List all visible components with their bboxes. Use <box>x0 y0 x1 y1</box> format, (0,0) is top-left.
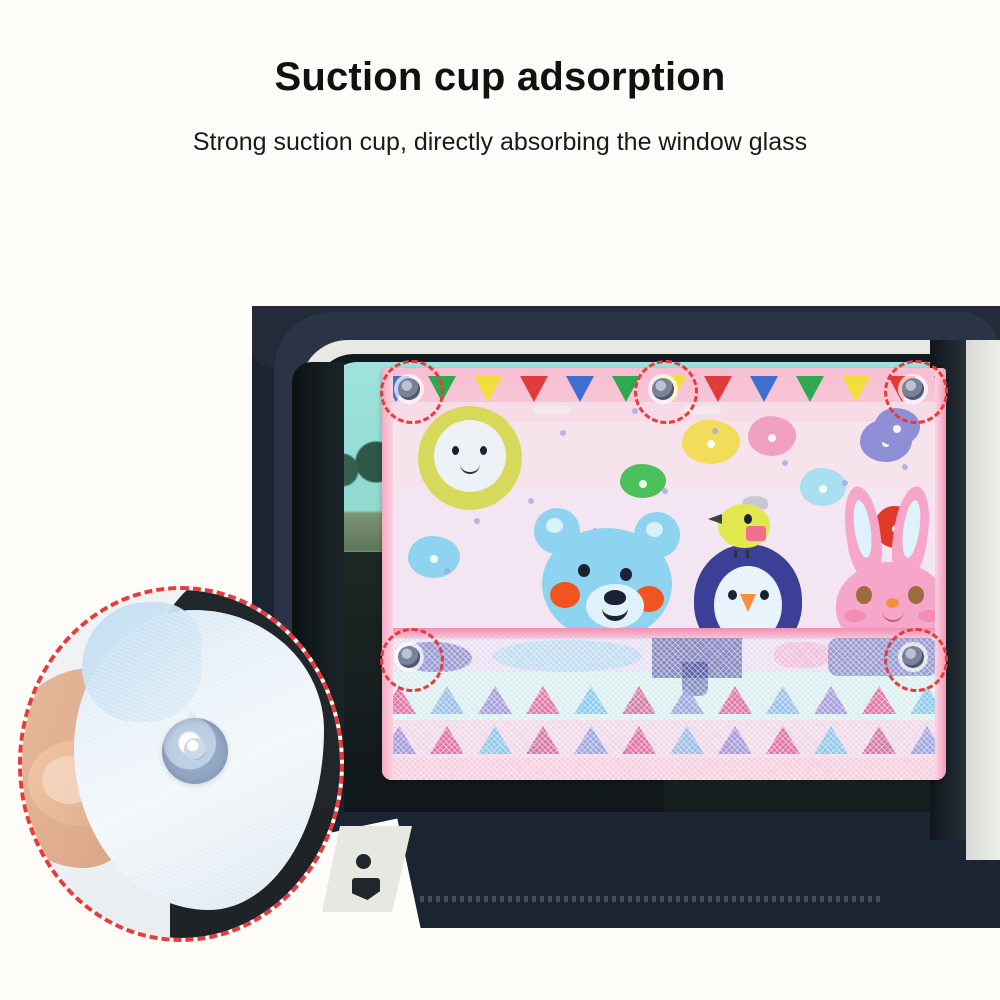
chick-leg <box>734 550 737 558</box>
bunting-flag <box>750 376 778 402</box>
suction-cup-closeup-inset <box>18 586 344 942</box>
decor-speck <box>782 460 788 466</box>
bunting-flag <box>704 376 732 402</box>
bear-eye <box>620 568 632 581</box>
decor-speck <box>902 464 908 470</box>
chick-character <box>712 496 774 552</box>
blob-center-dot <box>768 434 776 442</box>
bunting-flag <box>842 376 870 402</box>
decor-speck <box>662 488 668 494</box>
lion-face <box>434 420 506 492</box>
bunting-flag <box>566 376 594 402</box>
blob-center-dot <box>639 480 647 488</box>
blob-center-dot <box>430 555 438 563</box>
bunny-eye <box>908 586 924 604</box>
blob-green <box>620 464 666 498</box>
highlight-circle-bottom-left <box>380 628 444 692</box>
door-stitching <box>420 896 880 902</box>
chick-wing <box>746 526 766 541</box>
penguin-eye <box>728 590 737 600</box>
sunshade-curtain[interactable] <box>382 368 946 780</box>
door-lock-button[interactable] <box>356 854 371 869</box>
decor-speck <box>444 568 450 574</box>
blob-blue <box>408 536 460 578</box>
blob-pink-flower <box>748 416 796 456</box>
bunting-flag <box>474 376 502 402</box>
product-photo <box>252 306 1000 928</box>
penguin-beak <box>740 594 756 612</box>
bunting-flag <box>796 376 824 402</box>
highlight-circle-top-center <box>634 360 698 424</box>
curtain-edge-left <box>382 368 393 780</box>
hanging-clip <box>532 404 572 416</box>
decor-speck <box>560 430 566 436</box>
bunting-flag <box>520 376 548 402</box>
bunny-eye <box>856 586 872 604</box>
lion-character <box>418 406 522 510</box>
car-body-white <box>966 340 1000 860</box>
chick-leg <box>746 550 749 558</box>
highlight-circle-top-left <box>380 360 444 424</box>
product-marketing-page: Suction cup adsorption Strong suction cu… <box>0 0 1000 1000</box>
mesh-pocket[interactable] <box>382 628 946 780</box>
bear-head <box>542 528 672 640</box>
chick-body <box>718 504 770 548</box>
highlight-circle-bottom-right <box>884 628 948 692</box>
bear-eye <box>578 564 590 577</box>
suction-cup-closeup <box>162 718 228 784</box>
pocket-trim <box>382 628 946 637</box>
blob-center-dot <box>893 425 901 433</box>
mesh-texture <box>382 628 946 780</box>
decor-speck <box>632 408 638 414</box>
bunny-nose <box>886 598 899 608</box>
page-subtitle: Strong suction cup, directly absorbing t… <box>0 128 1000 157</box>
decor-speck <box>528 498 534 504</box>
lion-mouth <box>460 462 480 474</box>
bear-cheek <box>550 582 580 608</box>
blob-center-dot <box>707 440 715 448</box>
curtain-edge-right <box>935 368 946 780</box>
blob-yellow <box>682 420 740 464</box>
lion-eye <box>452 446 459 455</box>
bunny-mouth <box>882 610 904 622</box>
chick-beak <box>708 514 722 524</box>
bear-character <box>532 508 682 648</box>
lion-eye <box>480 446 487 455</box>
blob-center-dot <box>819 485 827 493</box>
decor-speck <box>712 428 718 434</box>
bunny-cheek <box>844 610 866 622</box>
penguin-eye <box>760 590 769 600</box>
chick-eye <box>744 514 752 524</box>
page-title: Suction cup adsorption <box>0 55 1000 100</box>
highlight-circle-top-right <box>884 360 948 424</box>
decor-speck <box>474 518 480 524</box>
